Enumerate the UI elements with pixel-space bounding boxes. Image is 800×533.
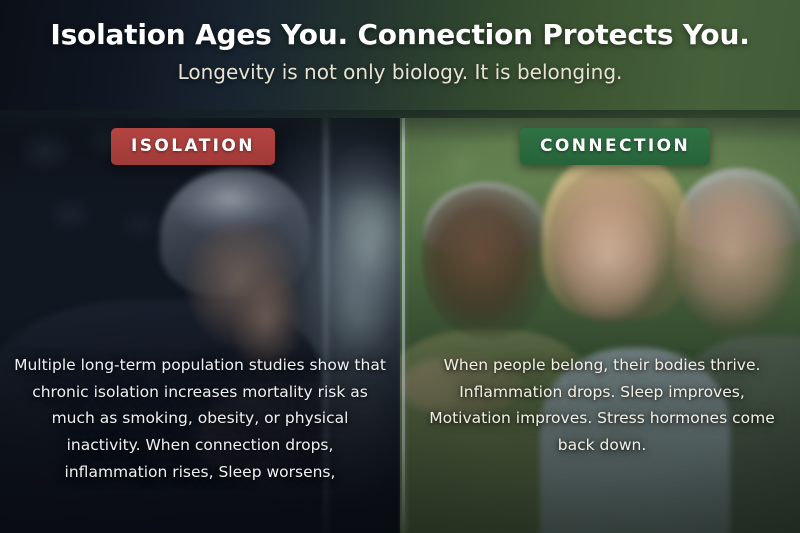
header-band: Isolation Ages You. Connection Protects … [0,0,800,118]
isolation-body-text: Multiple long-term population studies sh… [14,352,386,485]
infographic-poster: Isolation Ages You. Connection Protects … [0,0,800,533]
connection-body-text: When people belong, their bodies thrive.… [418,352,786,459]
page-title: Isolation Ages You. Connection Protects … [0,0,800,51]
badge-isolation: ISOLATION [111,128,275,165]
badge-connection: CONNECTION [520,128,710,165]
page-subtitle: Longevity is not only biology. It is bel… [0,51,800,84]
